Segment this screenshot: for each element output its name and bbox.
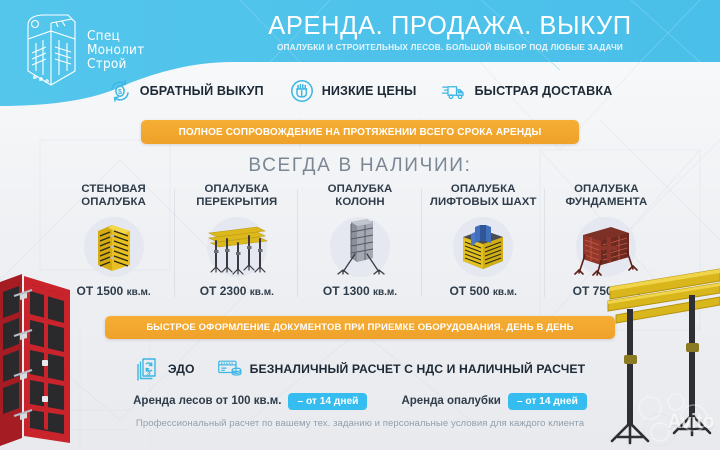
product-title-line-1: ОПАЛУБКА — [566, 183, 648, 196]
logo-line-2: Монолит — [87, 43, 144, 57]
term-formwork: Аренда опалубки – от 14 дней — [401, 393, 586, 410]
card-coins-icon — [217, 357, 243, 381]
product-title: СТЕНОВАЯ ОПАЛУБКА — [81, 183, 146, 211]
feature-low-prices: НИЗКИЕ ЦЕНЫ — [290, 79, 417, 103]
features-row: $ ОБРАТНЫЙ ВЫКУП НИЗКИЕ ЦЕНЫ — [0, 74, 720, 108]
product-card-column-formwork[interactable]: ОПАЛУБКА КОЛОНН — [298, 183, 421, 308]
product-price-value: ОТ 1500 — [77, 284, 124, 298]
term-label: Аренда опалубки — [401, 395, 500, 407]
payment-label: ЭДО — [168, 362, 195, 376]
product-title-line-2: ЛИФТОВЫХ ШАХТ — [430, 196, 537, 209]
product-art — [196, 214, 278, 280]
payment-edo: Э ЭДО — [135, 357, 195, 381]
product-art — [73, 214, 155, 280]
wall-formwork-icon — [86, 217, 142, 277]
delivery-truck-icon — [442, 79, 466, 103]
product-price-unit: кв.м. — [127, 287, 151, 298]
ribbon-bottom-label: БЫСТРОЕ ОФОРМЛЕНИЕ ДОКУМЕНТОВ ПРИ ПРИЕМК… — [146, 322, 573, 333]
svg-text:$: $ — [118, 89, 122, 96]
logo-text: Спец Монолит Строй — [87, 29, 144, 72]
product-price-value: ОТ 2300 — [200, 284, 247, 298]
product-card-slab-formwork[interactable]: ОПАЛУБКА ПЕРЕКРЫТИЯ — [175, 183, 298, 308]
ribbon-fast-paperwork: БЫСТРОЕ ОФОРМЛЕНИЕ ДОКУМЕНТОВ ПРИ ПРИЕМК… — [105, 316, 615, 339]
page-title: АРЕНДА. ПРОДАЖА. ВЫКУП — [200, 12, 700, 41]
feature-label: ОБРАТНЫЙ ВЫКУП — [140, 84, 264, 98]
term-scaffolding: Аренда лесов от 100 кв.м. – от 14 дней — [133, 393, 367, 410]
edo-document-icon: Э — [135, 357, 161, 381]
feature-label: НИЗКИЕ ЦЕНЫ — [322, 84, 417, 98]
product-price-value: ОТ 500 — [449, 284, 489, 298]
payment-cash-noncash: БЕЗНАЛИЧНЫЙ РАСЧЕТ С НДС И НАЛИЧНЫЙ РАСЧ… — [217, 357, 586, 381]
product-price-value: ОТ 1300 — [323, 284, 370, 298]
logo-line-1: Спец — [87, 29, 144, 43]
promo-banner: Спец Монолит Строй АРЕНДА. ПРОДАЖА. ВЫКУ… — [0, 0, 720, 450]
product-title-line-1: СТЕНОВАЯ — [81, 183, 146, 196]
ribbon-top-label: ПОЛНОЕ СОПРОВОЖДЕНИЕ НА ПРОТЯЖЕНИИ ВСЕГО… — [179, 127, 542, 138]
product-title-line-1: ОПАЛУБКА — [430, 183, 537, 196]
product-art — [442, 214, 524, 280]
product-card-shaft-formwork[interactable]: ОПАЛУБКА ЛИФТОВЫХ ШАХТ — [422, 183, 545, 308]
column-formwork-icon — [333, 216, 387, 278]
section-heading: ВСЕГДА В НАЛИЧИИ: — [0, 155, 720, 177]
product-price-unit: кв.м. — [373, 287, 397, 298]
logo-line-3: Строй — [87, 57, 144, 71]
product-price-unit: кв.м. — [250, 287, 274, 298]
product-price-unit: кв.м. — [493, 287, 517, 298]
term-chip: – от 14 дней — [288, 393, 367, 410]
product-title-line-2: ФУНДАМЕНТА — [566, 196, 648, 209]
product-price: ОТ 1500 кв.м. — [77, 284, 151, 298]
product-price: ОТ 2300 кв.м. — [200, 284, 274, 298]
product-title: ОПАЛУБКА ЛИФТОВЫХ ШАХТ — [430, 183, 537, 211]
product-title-line-2: КОЛОНН — [328, 196, 393, 209]
feature-buyback: $ ОБРАТНЫЙ ВЫКУП — [108, 79, 264, 103]
payment-label: БЕЗНАЛИЧНЫЙ РАСЧЕТ С НДС И НАЛИЧНЫЙ РАСЧ… — [250, 362, 586, 376]
hand-coin-icon — [290, 79, 314, 103]
product-title-line-1: ОПАЛУБКА — [196, 183, 277, 196]
red-wall-formwork-panel-photo — [0, 268, 76, 450]
product-title-line-2: ОПАЛУБКА — [81, 196, 146, 209]
page-subtitle: ОПАЛУБКИ И СТРОИТЕЛЬНЫХ ЛЕСОВ. БОЛЬШОЙ В… — [200, 43, 700, 52]
product-title-line-1: ОПАЛУБКА — [328, 183, 393, 196]
product-title: ОПАЛУБКА КОЛОНН — [328, 183, 393, 211]
feature-fast-delivery: БЫСТРАЯ ДОСТАВКА — [442, 79, 612, 103]
term-chip: – от 14 дней — [508, 393, 587, 410]
products-row: СТЕНОВАЯ ОПАЛУБКА — [52, 183, 668, 308]
product-title: ОПАЛУБКА ПЕРЕКРЫТИЯ — [196, 183, 277, 211]
product-title: ОПАЛУБКА ФУНДАМЕНТА — [566, 183, 648, 211]
term-label: Аренда лесов от 100 кв.м. — [133, 395, 281, 407]
ribbon-full-support: ПОЛНОЕ СОПРОВОЖДЕНИЕ НА ПРОТЯЖЕНИИ ВСЕГО… — [141, 120, 579, 144]
watermark-dots — [630, 392, 716, 444]
product-price: ОТ 500 кв.м. — [449, 284, 516, 298]
feature-label: БЫСТРАЯ ДОСТАВКА — [474, 84, 612, 98]
product-art — [319, 214, 401, 280]
svg-text:Э: Э — [146, 371, 150, 377]
product-price: ОТ 1300 кв.м. — [323, 284, 397, 298]
slab-formwork-icon — [201, 217, 273, 277]
shaft-formwork-icon — [453, 217, 513, 277]
product-title-line-2: ПЕРЕКРЫТИЯ — [196, 196, 277, 209]
buyback-arrows-icon: $ — [108, 79, 132, 103]
